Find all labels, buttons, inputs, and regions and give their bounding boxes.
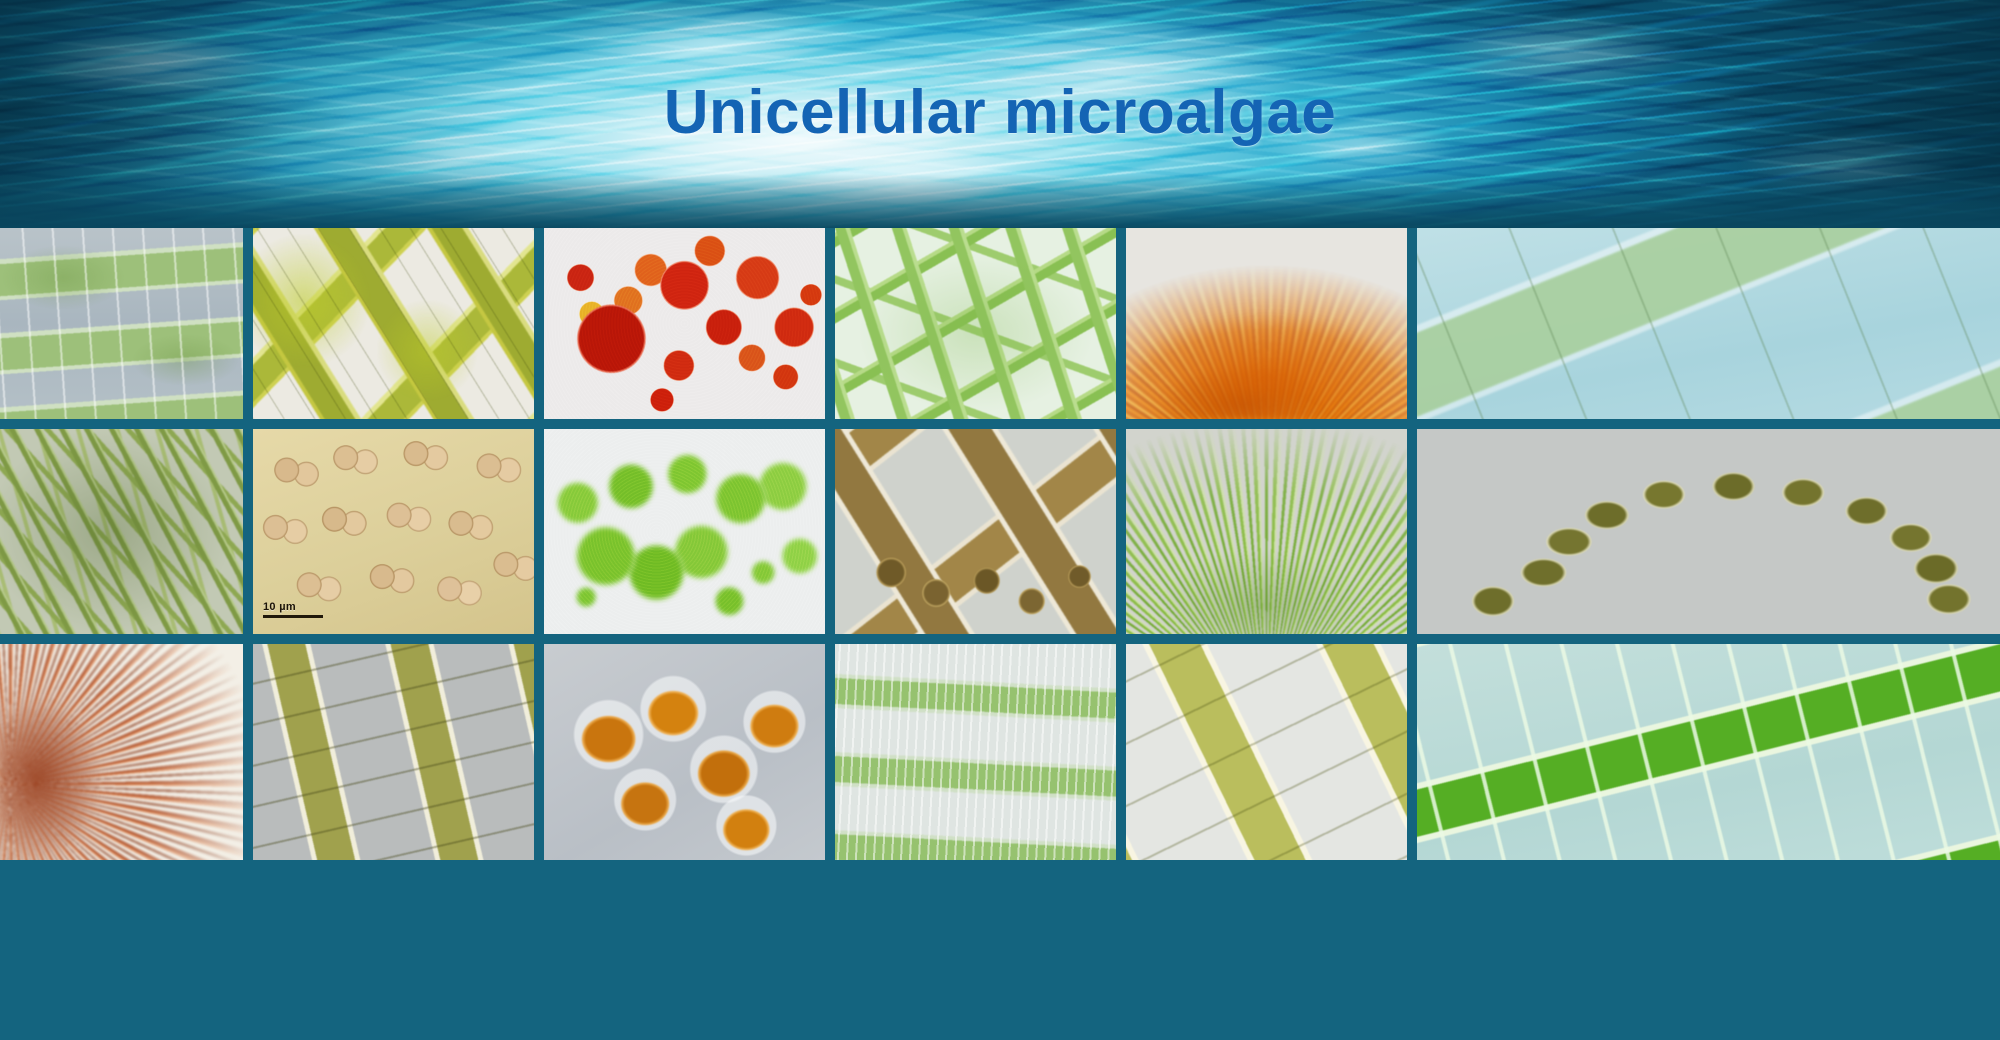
micrograph-ladder-banded-filaments: [835, 644, 1116, 860]
micrograph-brown-segmented-filaments: [835, 429, 1116, 634]
gallery-cell-r3c3[interactable]: [544, 644, 825, 860]
gallery-cell-r1c5[interactable]: [1126, 228, 1407, 419]
micrograph-green-branched-filaments: [835, 228, 1116, 419]
page-title: Unicellular microalgae: [0, 0, 2000, 228]
gallery-cell-r2c5[interactable]: [1126, 429, 1407, 634]
micrograph-orange-ovoid-cells: [544, 644, 825, 860]
micrograph-olive-branching-filaments: [253, 228, 534, 419]
micrograph-olive-straight-filaments: [253, 644, 534, 860]
scale-bar-line: [263, 615, 323, 618]
micrograph-green-radiating-tuft: [1126, 429, 1407, 634]
gallery-cell-r3c5[interactable]: [1126, 644, 1407, 860]
scale-bar-label: 10 µm: [263, 601, 296, 613]
gallery-cell-r2c6[interactable]: [1417, 429, 2000, 634]
micrograph-pale-diagonal-tubes: [1126, 644, 1407, 860]
micrograph-curved-cell-chain: [1417, 429, 2000, 634]
gallery-cell-r2c1[interactable]: [0, 429, 243, 634]
micrograph-red-spherical-cells: [544, 228, 825, 419]
gallery-cell-r1c4[interactable]: [835, 228, 1116, 419]
gallery-cell-r3c2[interactable]: [253, 644, 534, 860]
gallery-cell-r3c1[interactable]: [0, 644, 243, 860]
micrograph-filament-green-horizontal: [0, 228, 243, 419]
micrograph-green-round-cells: [544, 429, 825, 634]
gallery-cell-r3c6[interactable]: [1417, 644, 2000, 860]
gallery-cell-r2c3[interactable]: [544, 429, 825, 634]
micrograph-vivid-green-segments: [1417, 644, 2000, 860]
gallery-cell-r1c3[interactable]: [544, 228, 825, 419]
gallery-cell-r1c1[interactable]: [0, 228, 243, 419]
gallery-cell-r1c6[interactable]: [1417, 228, 2000, 419]
gallery-cell-r2c2[interactable]: 10 µm: [253, 429, 534, 634]
micrograph-fine-olive-filaments: [0, 429, 243, 634]
scale-bar: 10 µm: [263, 601, 323, 618]
hero-banner: Unicellular microalgae: [0, 0, 2000, 228]
micrograph-translucent-green-tube: [1417, 228, 2000, 419]
microalgae-gallery-grid: 10 µm: [0, 228, 2000, 1040]
gallery-cell-r3c4[interactable]: [835, 644, 1116, 860]
micrograph-orange-tuft: [1126, 228, 1407, 419]
micrograph-rust-red-tuft: [0, 644, 243, 860]
page-title-text: Unicellular microalgae: [664, 77, 1337, 148]
gallery-cell-r2c4[interactable]: [835, 429, 1116, 634]
gallery-cell-r1c2[interactable]: [253, 228, 534, 419]
